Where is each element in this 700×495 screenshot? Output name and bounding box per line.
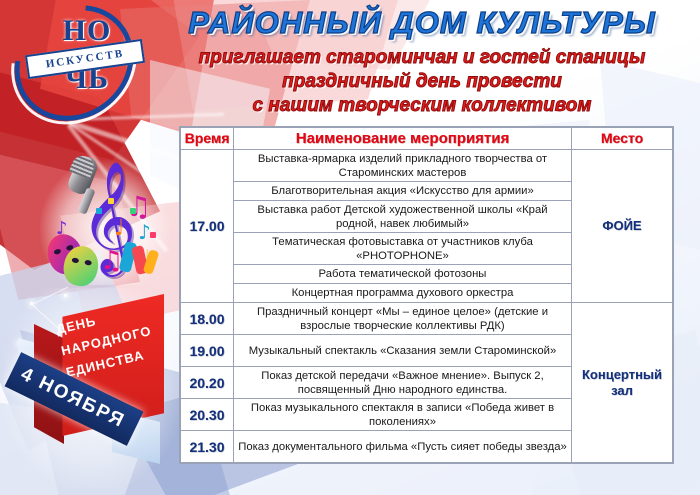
- cell-event: Выставка работ Детской художественной шк…: [234, 201, 572, 233]
- night-of-arts-logo: НО ЧЬ ИСКУССТВ: [4, 2, 152, 124]
- cell-time: 18.00: [181, 303, 234, 335]
- table-row: 18.00 Праздничный концерт «Мы – единое ц…: [181, 303, 673, 335]
- cell-event: Праздничный концерт «Мы – единое целое» …: [234, 303, 572, 335]
- logo-text-top: НО: [48, 16, 126, 46]
- cell-time: 20.20: [181, 367, 234, 399]
- music-collage-decoration: 𝄞 ♫ ♩ ♪ ♫ ♪ ♩: [30, 150, 180, 295]
- music-note-icon: ♪: [138, 220, 151, 244]
- table-row: 17.00 Выставка-ярмарка изделий прикладно…: [181, 150, 673, 182]
- cell-event: Музыкальный спектакль «Сказания земли Ст…: [234, 335, 572, 367]
- poster-canvas: НО ЧЬ ИСКУССТВ 𝄞 ♫ ♩ ♪ ♫ ♪ ♩: [0, 0, 700, 495]
- cell-place: Концертный зал: [572, 303, 673, 463]
- cell-time: 21.30: [181, 431, 234, 463]
- subtitle-line-3: с нашим творческим коллективом: [148, 95, 696, 117]
- cell-event: Работа тематической фотозоны: [234, 265, 572, 284]
- cell-event: Концертная программа духового оркестра: [234, 284, 572, 303]
- cell-time: 19.00: [181, 335, 234, 367]
- table-header-row: Время Наименование мероприятия Место: [181, 128, 673, 150]
- schedule-table: Время Наименование мероприятия Место 17.…: [180, 127, 673, 463]
- cell-event: Показ документального фильма «Пусть сияе…: [234, 431, 572, 463]
- music-note-icon: ♩: [114, 216, 124, 241]
- cell-event: Благотворительная акция «Искусство для а…: [234, 182, 572, 201]
- cell-event: Показ детской передачи «Важное мнение». …: [234, 367, 572, 399]
- cell-event: Выставка-ярмарка изделий прикладного тво…: [234, 150, 572, 182]
- page-title: РАЙОННЫЙ ДОМ КУЛЬТУРЫ: [148, 6, 696, 40]
- subtitle-line-1: приглашает староминчан и гостей станицы: [148, 47, 696, 69]
- unity-day-badge: ДЕНЬ НАРОДНОГО ЕДИНСТВА 4 НОЯБРЯ: [4, 288, 180, 488]
- column-header-event: Наименование мероприятия: [234, 128, 572, 150]
- schedule-table-body: 17.00 Выставка-ярмарка изделий прикладно…: [181, 150, 673, 463]
- cell-time: 20.30: [181, 399, 234, 431]
- cell-event: Показ музыкального спектакля в записи «П…: [234, 399, 572, 431]
- column-header-place: Место: [572, 128, 673, 150]
- cell-event: Тематическая фотовыставка от участников …: [234, 233, 572, 265]
- column-header-time: Время: [181, 128, 234, 150]
- cell-time: 17.00: [181, 150, 234, 303]
- music-note-icon: ♫: [126, 190, 151, 223]
- subtitle-line-2: праздничный день провести: [148, 71, 696, 93]
- cell-place: ФОЙЕ: [572, 150, 673, 303]
